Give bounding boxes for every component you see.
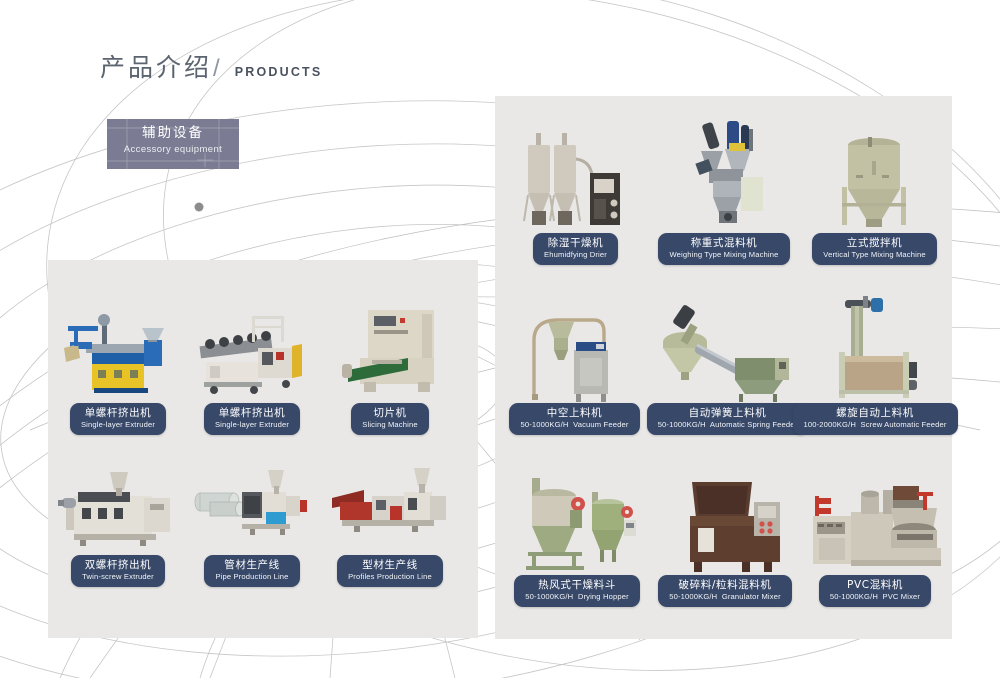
- product-name-cn: 单螺杆挤出机: [215, 407, 289, 420]
- product-name-en: Pipe Production Line: [215, 572, 288, 582]
- product-name-en: Slicing Machine: [362, 420, 417, 430]
- product-name-en: Vertical Type Mixing Machine: [823, 250, 925, 260]
- product-label[interactable]: PVC混料机 50-1000KG/H PVC Mixer: [819, 575, 931, 607]
- product-label[interactable]: 破碎料/粒料混料机 50-1000KG/H Granulator Mixer: [658, 575, 792, 607]
- product-name-en: 50-1000KG/H Granulator Mixer: [669, 592, 781, 602]
- product-name-en: Twin-screw Extruder: [82, 572, 154, 582]
- product-label[interactable]: 螺旋自动上料机 100-2000KG/H Screw Automatic Fee…: [793, 403, 958, 435]
- product-label[interactable]: 热风式干燥料斗 50-1000KG/H Drying Hopper: [514, 575, 640, 607]
- product-label[interactable]: 立式搅拌机 Vertical Type Mixing Machine: [812, 233, 936, 265]
- product-label[interactable]: 中空上料机 50-1000KG/H Vacuum Feeder: [509, 403, 639, 435]
- product-image-drying-hopper: [512, 472, 642, 575]
- product-card-left-5[interactable]: 型材生产线 Profiles Production Line: [330, 462, 450, 587]
- product-label[interactable]: 管材生产线 Pipe Production Line: [204, 555, 299, 587]
- node-dot: [195, 203, 204, 212]
- product-name-en: Profiles Production Line: [348, 572, 432, 582]
- product-name-en: 100-2000KG/H Screw Automatic Feeder: [804, 420, 947, 430]
- product-card-right-7[interactable]: 破碎料/粒料混料机 50-1000KG/H Granulator Mixer: [660, 472, 790, 607]
- product-image-screw-automatic-feeder: [805, 292, 945, 403]
- product-image-pipe-production-line: [192, 462, 312, 555]
- product-card-right-5[interactable]: 螺旋自动上料机 100-2000KG/H Screw Automatic Fee…: [805, 292, 945, 435]
- product-card-left-1[interactable]: 单螺杆挤出机 Single-layer Extruder: [192, 300, 312, 435]
- product-card-left-4[interactable]: 管材生产线 Pipe Production Line: [192, 462, 312, 587]
- product-card-right-0[interactable]: 除湿干燥机 Ehumidfying Drier: [518, 130, 633, 265]
- product-name-cn: 螺旋自动上料机: [804, 407, 947, 420]
- product-image-profiles-production-line: [330, 462, 450, 555]
- poster-canvas: 产品介绍 / PRODUCTS 辅助设备 Accessory equipment: [0, 0, 1000, 678]
- product-card-left-0[interactable]: 单螺杆挤出机 Single-layer Extruder: [58, 300, 178, 435]
- product-name-en: 50-1000KG/H PVC Mixer: [830, 592, 920, 602]
- product-name-cn: 双螺杆挤出机: [82, 559, 154, 572]
- category-badge-accessory-equipment[interactable]: 辅助设备 Accessory equipment: [107, 119, 239, 169]
- product-name-cn: 自动弹簧上料机: [658, 407, 798, 420]
- product-label[interactable]: 型材生产线 Profiles Production Line: [337, 555, 443, 587]
- product-name-en: 50-1000KG/H Automatic Spring Feeder: [658, 420, 798, 430]
- product-name-cn: 破碎料/粒料混料机: [669, 579, 781, 592]
- product-image-weighing-type-mixing-machine: [665, 115, 783, 233]
- product-label[interactable]: 双螺杆挤出机 Twin-screw Extruder: [71, 555, 165, 587]
- title-slash: /: [213, 55, 220, 83]
- product-image-single-layer-extruder: [58, 300, 178, 403]
- product-name-cn: 切片机: [362, 407, 417, 420]
- product-name-cn: PVC混料机: [830, 579, 920, 592]
- product-name-en: Single-layer Extruder: [81, 420, 155, 430]
- product-name-en: Single-layer Extruder: [215, 420, 289, 430]
- product-card-right-8[interactable]: PVC混料机 50-1000KG/H PVC Mixer: [805, 472, 945, 607]
- product-image-granulator-mixer: [660, 472, 790, 575]
- product-name-cn: 单螺杆挤出机: [81, 407, 155, 420]
- product-card-right-4[interactable]: 自动弹簧上料机 50-1000KG/H Automatic Spring Fee…: [655, 300, 800, 435]
- product-image-dehumidifying-drier: [518, 129, 633, 233]
- product-name-cn: 型材生产线: [348, 559, 432, 572]
- product-image-slicing-machine: [330, 300, 450, 403]
- product-image-vertical-type-mixing-machine: [812, 127, 937, 233]
- page-title-en: PRODUCTS: [235, 65, 323, 79]
- product-name-cn: 立式搅拌机: [823, 237, 925, 250]
- product-image-vacuum-feeder: [512, 300, 637, 403]
- product-label[interactable]: 除湿干燥机 Ehumidfying Drier: [533, 233, 618, 265]
- product-name-cn: 除湿干燥机: [544, 237, 607, 250]
- page-title-cn: 产品介绍: [100, 48, 212, 84]
- page-title: 产品介绍 / PRODUCTS: [100, 48, 322, 84]
- category-name-cn: 辅助设备: [107, 124, 239, 143]
- product-label[interactable]: 称重式混料机 Weighing Type Mixing Machine: [658, 233, 789, 265]
- product-name-cn: 中空上料机: [520, 407, 628, 420]
- product-label[interactable]: 单螺杆挤出机 Single-layer Extruder: [204, 403, 300, 435]
- product-name-en: 50-1000KG/H Drying Hopper: [525, 592, 629, 602]
- product-name-cn: 管材生产线: [215, 559, 288, 572]
- product-card-right-3[interactable]: 中空上料机 50-1000KG/H Vacuum Feeder: [512, 300, 637, 435]
- category-name-en: Accessory equipment: [107, 143, 239, 157]
- product-image-twin-screw-extruder: [58, 462, 178, 555]
- product-image-automatic-spring-feeder: [655, 300, 800, 403]
- product-card-right-1[interactable]: 称重式混料机 Weighing Type Mixing Machine: [665, 116, 783, 265]
- product-card-right-2[interactable]: 立式搅拌机 Vertical Type Mixing Machine: [812, 128, 937, 265]
- product-card-left-3[interactable]: 双螺杆挤出机 Twin-screw Extruder: [58, 462, 178, 587]
- product-name-en: 50-1000KG/H Vacuum Feeder: [520, 420, 628, 430]
- product-name-cn: 热风式干燥料斗: [525, 579, 629, 592]
- product-name-en: Weighing Type Mixing Machine: [669, 250, 778, 260]
- product-name-cn: 称重式混料机: [669, 237, 778, 250]
- product-image-pvc-mixer: [805, 472, 945, 575]
- product-label[interactable]: 自动弹簧上料机 50-1000KG/H Automatic Spring Fee…: [647, 403, 809, 435]
- product-label[interactable]: 切片机 Slicing Machine: [351, 403, 428, 435]
- product-card-left-2[interactable]: 切片机 Slicing Machine: [330, 300, 450, 435]
- product-name-en: Ehumidfying Drier: [544, 250, 607, 260]
- product-label[interactable]: 单螺杆挤出机 Single-layer Extruder: [70, 403, 166, 435]
- product-image-single-layer-extruder: [192, 300, 312, 403]
- product-card-right-6[interactable]: 热风式干燥料斗 50-1000KG/H Drying Hopper: [512, 472, 642, 607]
